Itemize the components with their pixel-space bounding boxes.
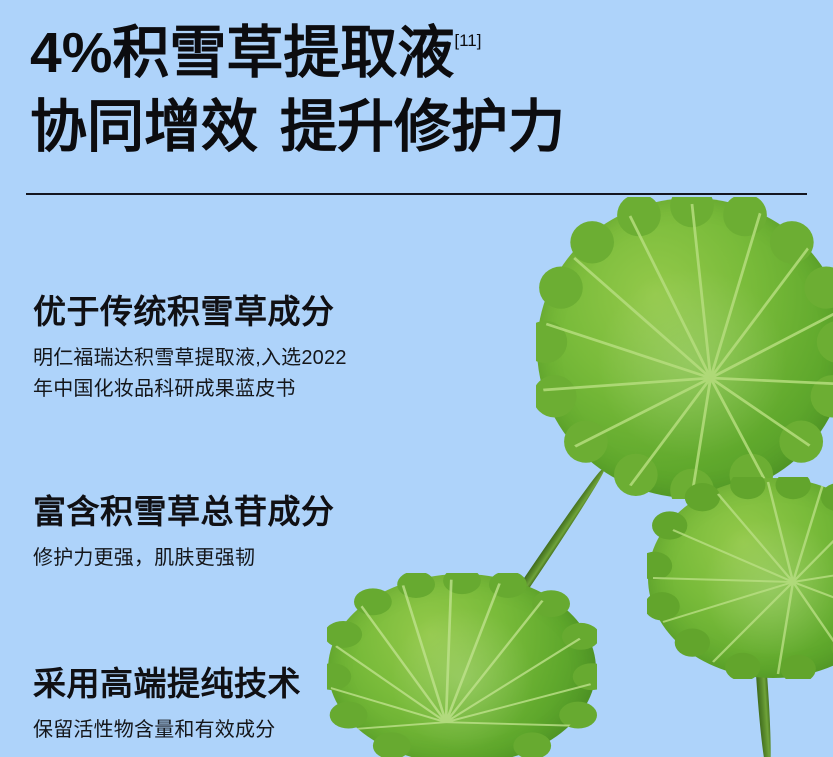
headline-line-2: 协同增效提升修护力 (30, 90, 790, 164)
headline-line-1: 4%积雪草提取液[11] (30, 16, 790, 90)
feature-body-1-line-2: 年中国化妆品科研成果蓝皮书 (33, 374, 347, 405)
feature-body-2-line-1: 修护力更强，肌肤更强韧 (33, 543, 335, 574)
page-title: 4%积雪草提取液[11] 协同增效提升修护力 (30, 16, 790, 164)
feature-title-3: 采用高端提纯技术 (33, 666, 301, 702)
header-divider (26, 193, 807, 195)
feature-body-1-line-1: 明仁福瑞达积雪草提取液,入选2022 (33, 343, 347, 374)
feature-body-3-line-1: 保留活性物含量和有效成分 (33, 715, 301, 746)
feature-body-3: 保留活性物含量和有效成分 (33, 715, 301, 746)
feature-body-2: 修护力更强，肌肤更强韧 (33, 543, 335, 574)
feature-title-1: 优于传统积雪草成分 (33, 294, 347, 330)
feature-body-1: 明仁福瑞达积雪草提取液,入选2022 年中国化妆品科研成果蓝皮书 (33, 343, 347, 405)
product-feature-poster: 4%积雪草提取液[11] 协同增效提升修护力 优于传统积雪草成分 明仁福瑞达积雪… (0, 0, 833, 757)
headline-footnote-marker: [11] (454, 31, 481, 50)
headline-line-1-text: 4%积雪草提取液 (30, 21, 454, 85)
headline-line-2-part-2: 提升修护力 (280, 95, 565, 159)
feature-section-3: 采用高端提纯技术 保留活性物含量和有效成分 (33, 666, 301, 746)
feature-section-2: 富含积雪草总苷成分 修护力更强，肌肤更强韧 (33, 494, 335, 574)
feature-section-1: 优于传统积雪草成分 明仁福瑞达积雪草提取液,入选2022 年中国化妆品科研成果蓝… (33, 294, 347, 405)
poster-content: 4%积雪草提取液[11] 协同增效提升修护力 优于传统积雪草成分 明仁福瑞达积雪… (0, 0, 833, 757)
feature-title-2: 富含积雪草总苷成分 (33, 494, 335, 530)
headline-line-2-part-1: 协同增效 (30, 95, 258, 159)
